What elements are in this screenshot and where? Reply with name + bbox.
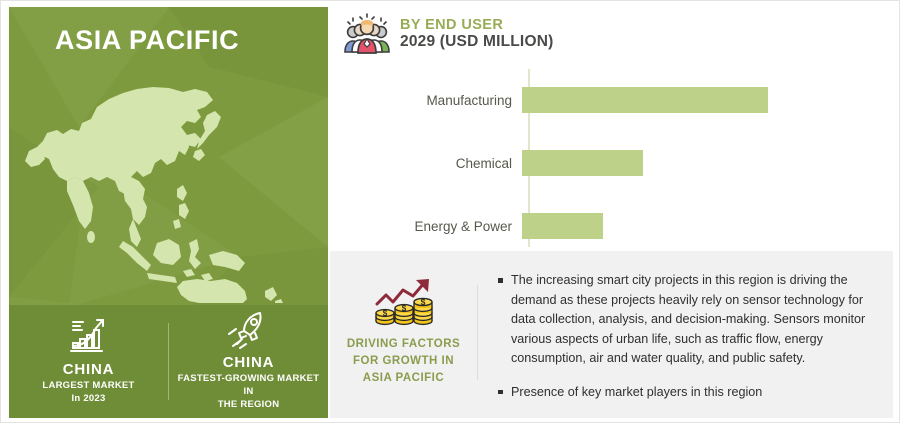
bar-row: Energy & Power xyxy=(330,213,893,239)
bar-track xyxy=(520,150,893,176)
people-group-icon xyxy=(344,13,390,55)
bar-chart: Manufacturing Chemical Energy & Power xyxy=(330,65,893,251)
bar-chemical[interactable] xyxy=(522,150,643,176)
chart-kicker: BY END USER xyxy=(400,17,553,33)
stats-band: CHINA LARGEST MARKET In 2023 xyxy=(9,305,328,418)
driving-factors-panel: $ $ xyxy=(330,251,893,418)
svg-text:$: $ xyxy=(382,309,387,318)
bar-manufacturing[interactable] xyxy=(522,87,768,113)
stat-country: CHINA xyxy=(63,361,115,378)
bar-label: Chemical xyxy=(330,156,520,171)
bullet-list: The increasing smart city projects in th… xyxy=(478,251,893,418)
stat-descriptor: FASTEST-GROWING MARKET IN xyxy=(175,373,322,399)
chart-header: BY END USER 2029 (USD MILLION) xyxy=(344,13,553,55)
bar-energy-power[interactable] xyxy=(522,213,603,239)
stat-descriptor: LARGEST MARKET xyxy=(42,380,134,393)
chart-year-units: 2029 (USD MILLION) xyxy=(400,33,553,50)
bar-label: Manufacturing xyxy=(330,93,520,108)
page-title: ASIA PACIFIC xyxy=(55,27,239,54)
asia-pacific-map-icon xyxy=(19,85,319,303)
bar-track xyxy=(520,87,893,113)
stat-subtext: THE REGION xyxy=(218,399,280,412)
bar-label: Energy & Power xyxy=(330,219,520,234)
list-item: The increasing smart city projects in th… xyxy=(498,271,877,369)
growth-coins-icon: $ $ xyxy=(371,276,437,328)
bar-row: Manufacturing xyxy=(330,87,893,113)
asia-pacific-map-svg xyxy=(19,85,319,303)
svg-text:$: $ xyxy=(420,297,425,307)
driving-factors-title-line2: FOR GROWTH IN xyxy=(353,353,454,370)
bar-track xyxy=(520,213,893,239)
stat-subtext: In 2023 xyxy=(72,393,106,406)
svg-text:$: $ xyxy=(401,304,406,313)
driving-factors-title-line3: ASIA PACIFIC xyxy=(363,370,444,387)
list-item: Presence of key market players in this r… xyxy=(498,383,877,403)
driving-factors-heading: $ $ xyxy=(330,251,477,418)
bar-row: Chemical xyxy=(330,150,893,176)
driving-factors-title-line1: DRIVING FACTORS xyxy=(347,336,460,353)
stat-tile-fastest-growing: CHINA FASTEST-GROWING MARKET IN THE REGI… xyxy=(169,305,328,418)
infographic-root: ASIA PACIFIC xyxy=(0,0,900,423)
stat-country: CHINA xyxy=(223,354,275,371)
rocket-icon xyxy=(226,309,272,349)
region-panel: ASIA PACIFIC xyxy=(9,7,328,418)
chart-header-text: BY END USER 2029 (USD MILLION) xyxy=(400,17,553,51)
stat-tile-largest-market: CHINA LARGEST MARKET In 2023 xyxy=(9,305,168,418)
bar-chart-growth-icon xyxy=(66,316,112,356)
